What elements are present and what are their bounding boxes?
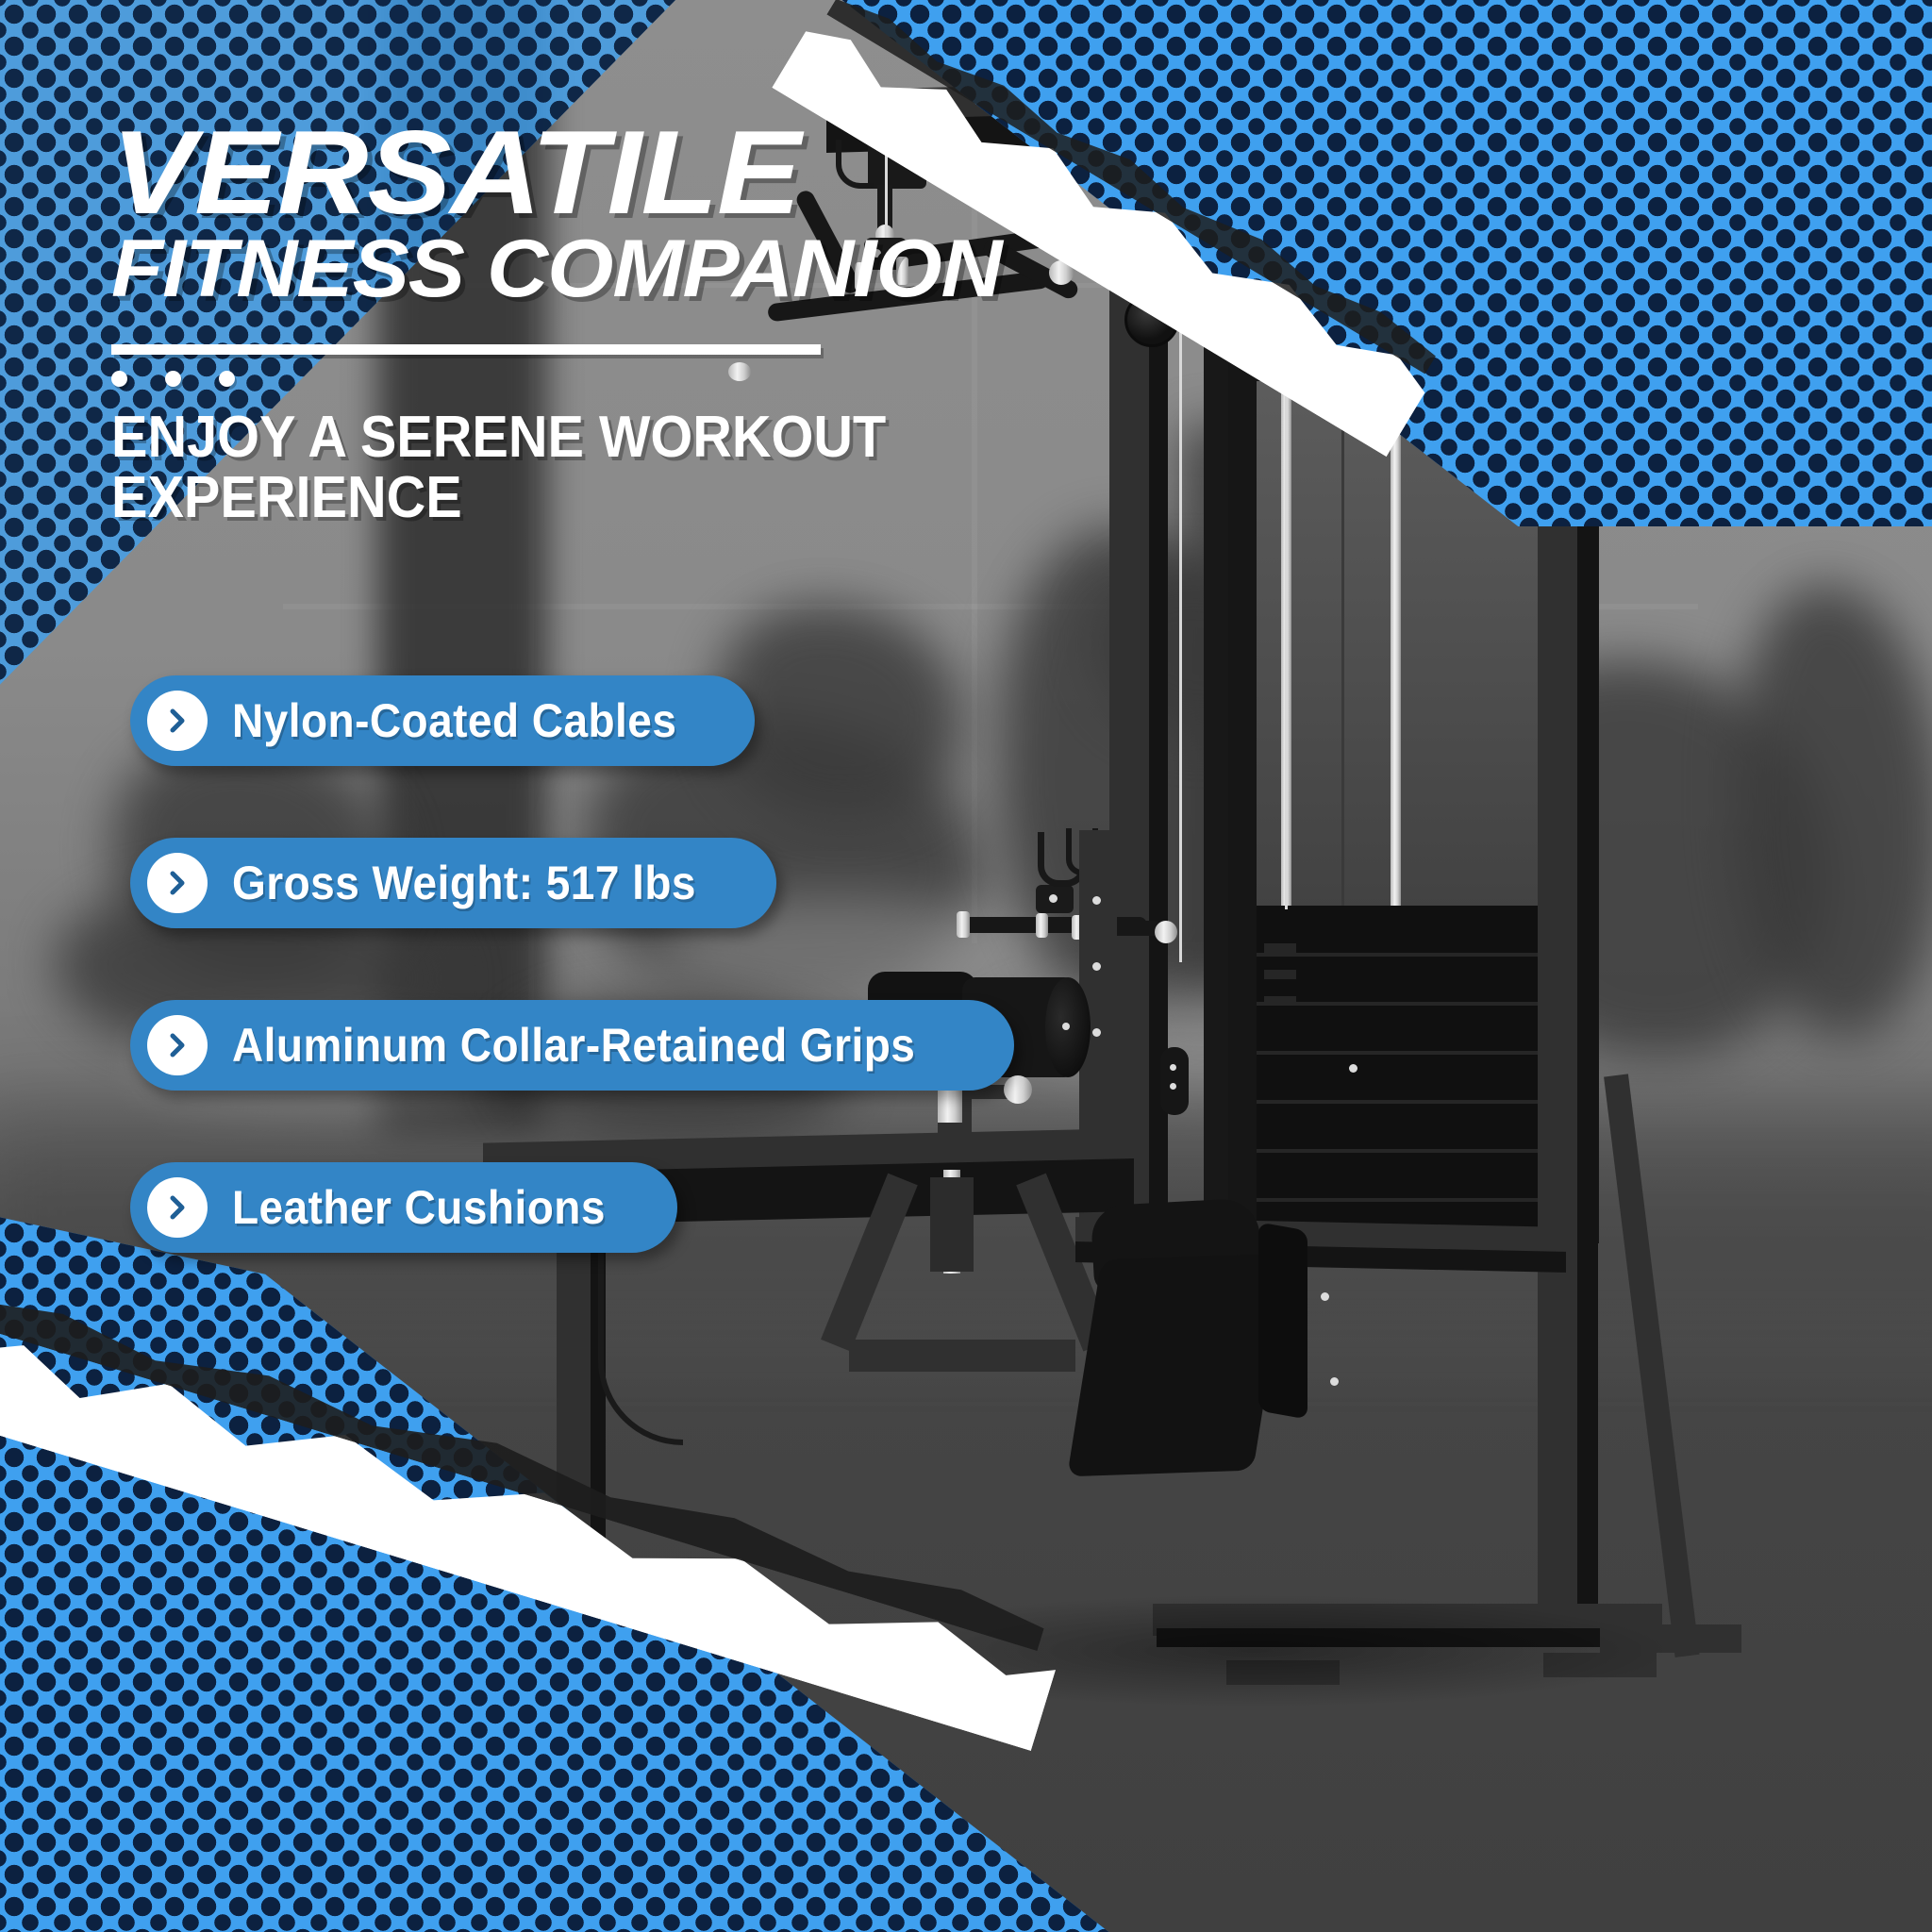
chevron-right-icon [147,1015,208,1075]
feature-label: Gross Weight: 517 lbs [232,856,696,910]
feature-label: Leather Cushions [232,1180,606,1235]
divider-dots [111,371,1064,387]
headline-line-1: VERSATILE [111,119,1122,225]
chevron-right-icon [147,691,208,751]
product-marketing-banner: VERSATILE FITNESS COMPANION ENJOY A SERE… [0,0,1932,1932]
feature-pill[interactable]: Gross Weight: 517 lbs [130,838,776,928]
headline-line-2: FITNESS COMPANION [111,233,1112,306]
feature-pill[interactable]: Nylon-Coated Cables [130,675,755,766]
feature-pill[interactable]: Leather Cushions [130,1162,677,1253]
divider-dot [219,371,235,387]
feature-label: Aluminum Collar-Retained Grips [232,1018,915,1073]
feature-label: Nylon-Coated Cables [232,693,676,748]
chevron-right-icon [147,1177,208,1238]
headline-block: VERSATILE FITNESS COMPANION ENJOY A SERE… [111,119,1064,529]
weight-stack [1257,906,1541,1245]
subheadline: ENJOY A SERENE WORKOUT EXPERIENCE [111,408,997,529]
chevron-right-icon [147,853,208,913]
divider-dot [165,371,181,387]
divider-rule [111,344,821,355]
divider-dot [111,371,127,387]
feature-pill[interactable]: Aluminum Collar-Retained Grips [130,1000,1014,1091]
feature-list: Nylon-Coated Cables Gross Weight: 517 lb… [130,675,1014,1324]
